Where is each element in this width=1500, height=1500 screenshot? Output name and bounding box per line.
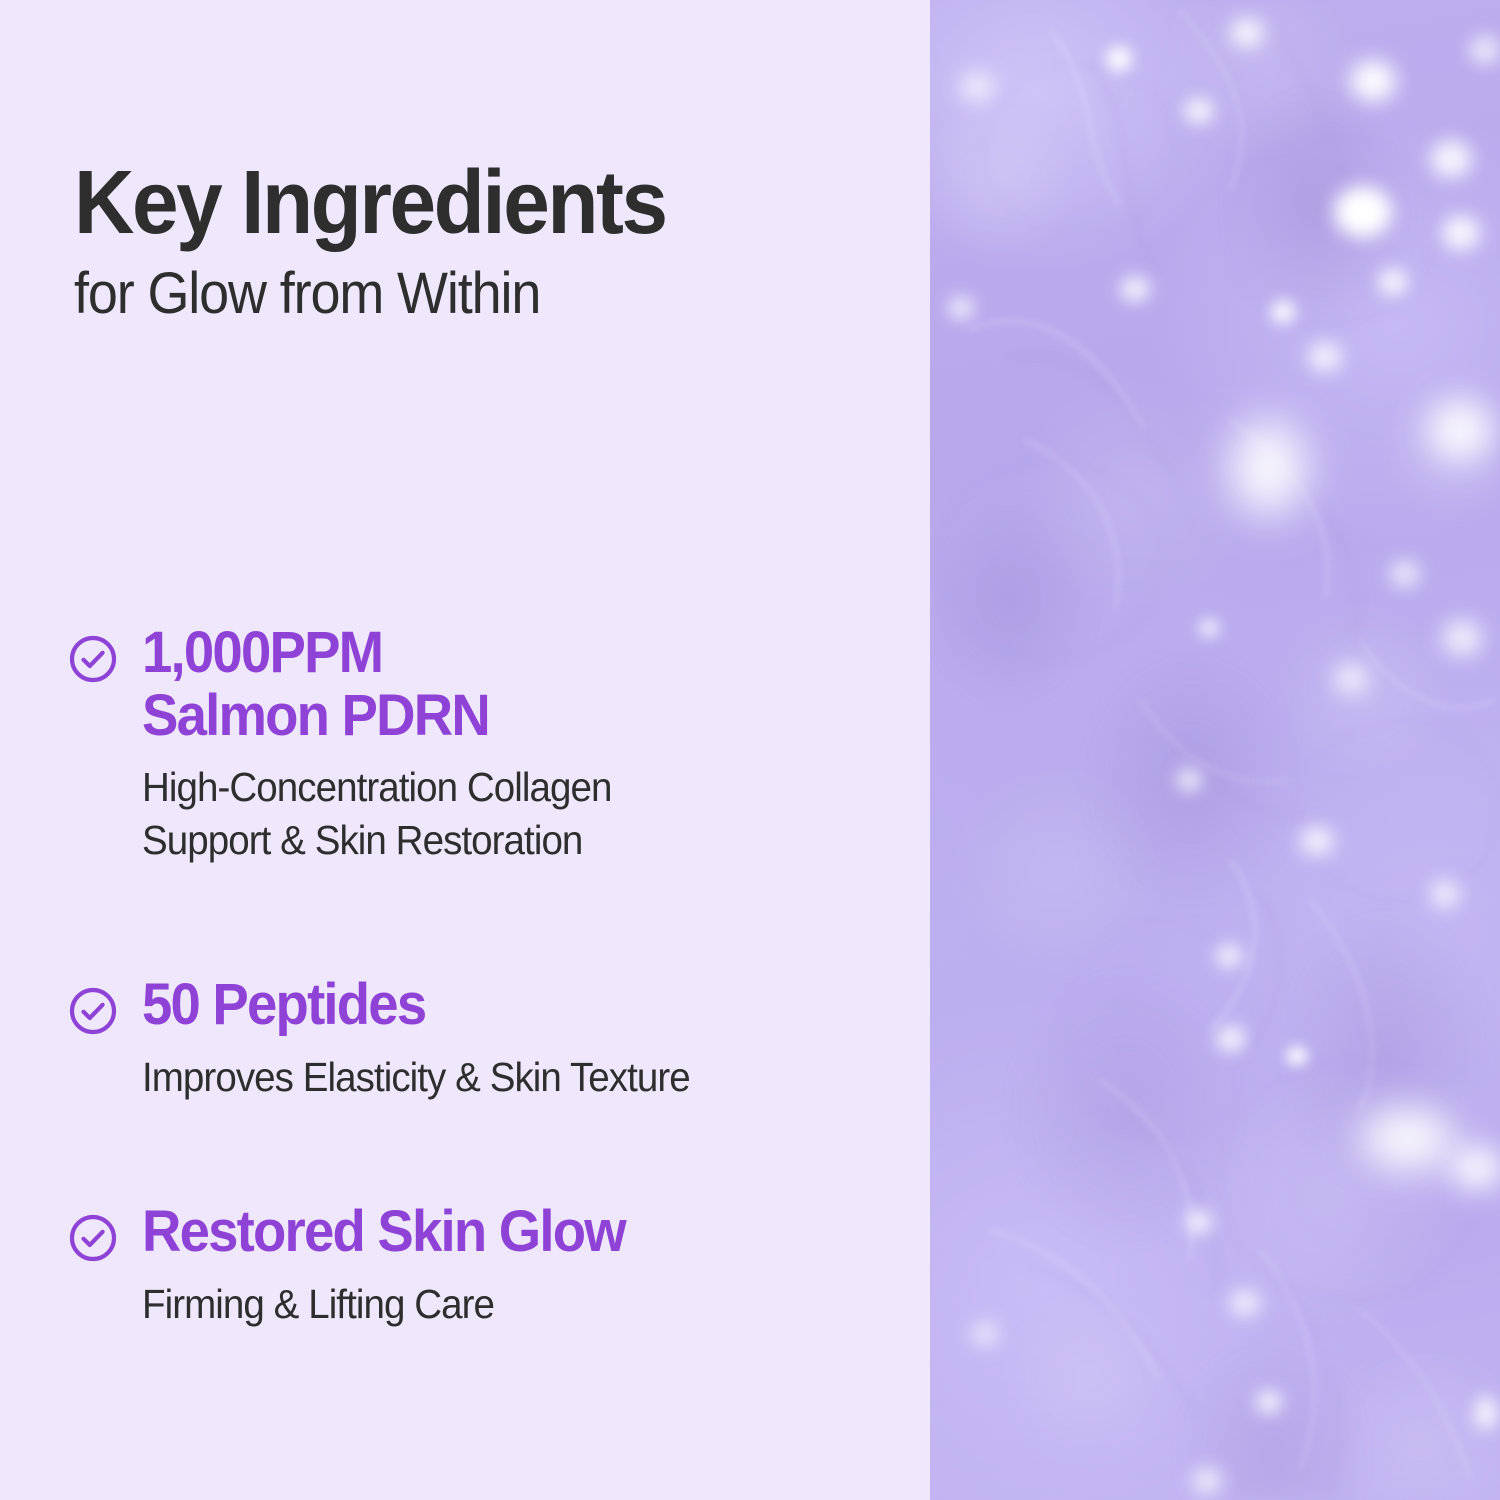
feature-title: 50 Peptides — [142, 974, 843, 1037]
check-circle-icon — [68, 986, 118, 1036]
check-circle-icon — [68, 1213, 118, 1263]
check-circle-icon — [68, 634, 118, 684]
key-ingredients-page: Key Ingredients for Glow from Within 1,0… — [0, 0, 1500, 1500]
feature-description: Firming & Lifting Care — [142, 1278, 843, 1330]
feature-item: Restored Skin Glow Firming & Lifting Car… — [68, 1201, 888, 1330]
feature-title: Restored Skin Glow — [142, 1201, 843, 1264]
content-panel: Key Ingredients for Glow from Within 1,0… — [0, 0, 930, 1500]
heading-block: Key Ingredients for Glow from Within — [74, 158, 710, 323]
gel-highlight-layer — [930, 0, 1500, 1500]
feature-item: 1,000PPM Salmon PDRN High-Concentration … — [68, 622, 888, 866]
feature-list: 1,000PPM Salmon PDRN High-Concentration … — [68, 622, 888, 1330]
page-title: Key Ingredients — [74, 158, 666, 248]
feature-description: Improves Elasticity & Skin Texture — [142, 1051, 843, 1103]
feature-item: 50 Peptides Improves Elasticity & Skin T… — [68, 974, 888, 1103]
gel-texture-image — [930, 0, 1500, 1500]
feature-description: High-Concentration Collagen Support & Sk… — [142, 761, 843, 866]
page-subtitle: for Glow from Within — [74, 265, 666, 323]
feature-title: 1,000PPM Salmon PDRN — [142, 622, 843, 747]
